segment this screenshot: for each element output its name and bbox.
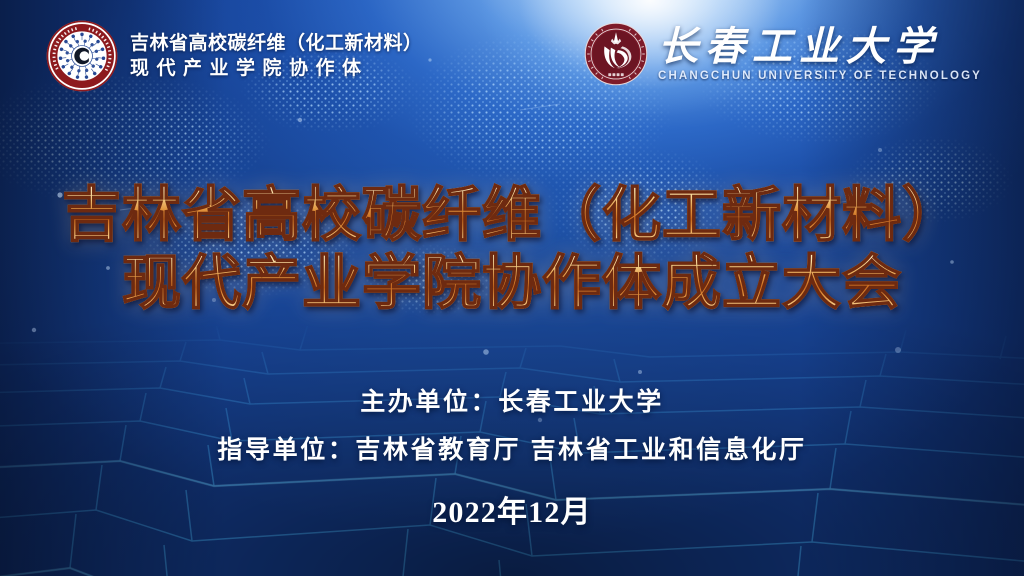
changchun-university-of-technology-emblem-icon [584, 22, 648, 86]
title-line-1: 吉林省高校碳纤维（化工新材料） [0, 178, 1024, 252]
guidance-organization-line: 指导单位：吉林省教育厅 吉林省工业和信息化厅 [0, 426, 1024, 474]
alliance-name-line1: 吉林省高校碳纤维（化工新材料） [130, 31, 423, 56]
event-date: 2022年12月 [0, 487, 1024, 531]
subtitle-block: 主办单位：长春工业大学 指导单位：吉林省教育厅 吉林省工业和信息化厅 [0, 378, 1024, 474]
main-title-block: 吉林省高校碳纤维（化工新材料） 现代产业学院协作体成立大会 [0, 178, 1024, 320]
carbon-fiber-alliance-emblem-icon [46, 20, 118, 92]
alliance-brand-lockup: 吉林省高校碳纤维（化工新材料） 现代产业学院协作体 [46, 20, 423, 92]
alliance-name-line2: 现代产业学院协作体 [130, 56, 423, 81]
presentation-title-slide: 吉林省高校碳纤维（化工新材料） 现代产业学院协作体 [0, 0, 1024, 576]
title-line-2: 现代产业学院协作体成立大会 [0, 246, 1024, 320]
university-name-en: CHANGCHUN UNIVERSITY OF TECHNOLOGY [658, 69, 982, 84]
university-brand-lockup: 长春工业大学 CHANGCHUN UNIVERSITY OF TECHNOLOG… [584, 22, 982, 86]
slide-header: 吉林省高校碳纤维（化工新材料） 现代产业学院协作体 [0, 0, 1024, 112]
university-name-cn: 长春工业大学 [658, 25, 982, 69]
host-organization-line: 主办单位：长春工业大学 [0, 378, 1024, 426]
